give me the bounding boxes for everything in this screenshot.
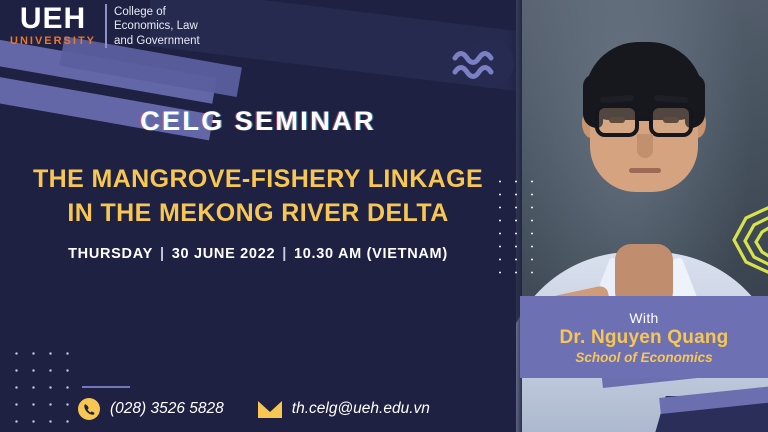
event-day: THURSDAY [68,246,153,262]
event-title-line-1: THE MANGROVE-FISHERY LINKAGE [0,163,516,197]
event-time: 10.30 AM (VIETNAM) [294,246,448,262]
event-date: 30 JUNE 2022 [172,246,276,262]
event-kicker: CELG SEMINAR [0,106,516,137]
datetime-separator-1: | [153,246,172,262]
portrait-nose [637,134,653,158]
glasses-lens-right-icon [649,104,693,137]
glasses-bridge-icon [638,117,651,121]
portrait-mouth [629,168,661,173]
speaker-affiliation: School of Economics [575,350,712,365]
datetime-separator-2: | [275,246,294,262]
event-datetime: THURSDAY|30 JUNE 2022|10.30 AM (VIETNAM) [0,246,516,262]
event-title: THE MANGROVE-FISHERY LINKAGE IN THE MEKO… [0,163,516,230]
glasses-lens-left-icon [595,104,639,137]
speaker-name: Dr. Nguyen Quang [560,327,729,349]
main-content: CELG SEMINAR THE MANGROVE-FISHERY LINKAG… [0,0,516,432]
speaker-with-label: With [629,310,658,326]
speaker-panel: With Dr. Nguyen Quang School of Economic… [520,296,768,378]
seminar-poster: UEH UNIVERSITY College of Economics, Law… [0,0,768,432]
event-title-line-2: IN THE MEKONG RIVER DELTA [0,197,516,231]
